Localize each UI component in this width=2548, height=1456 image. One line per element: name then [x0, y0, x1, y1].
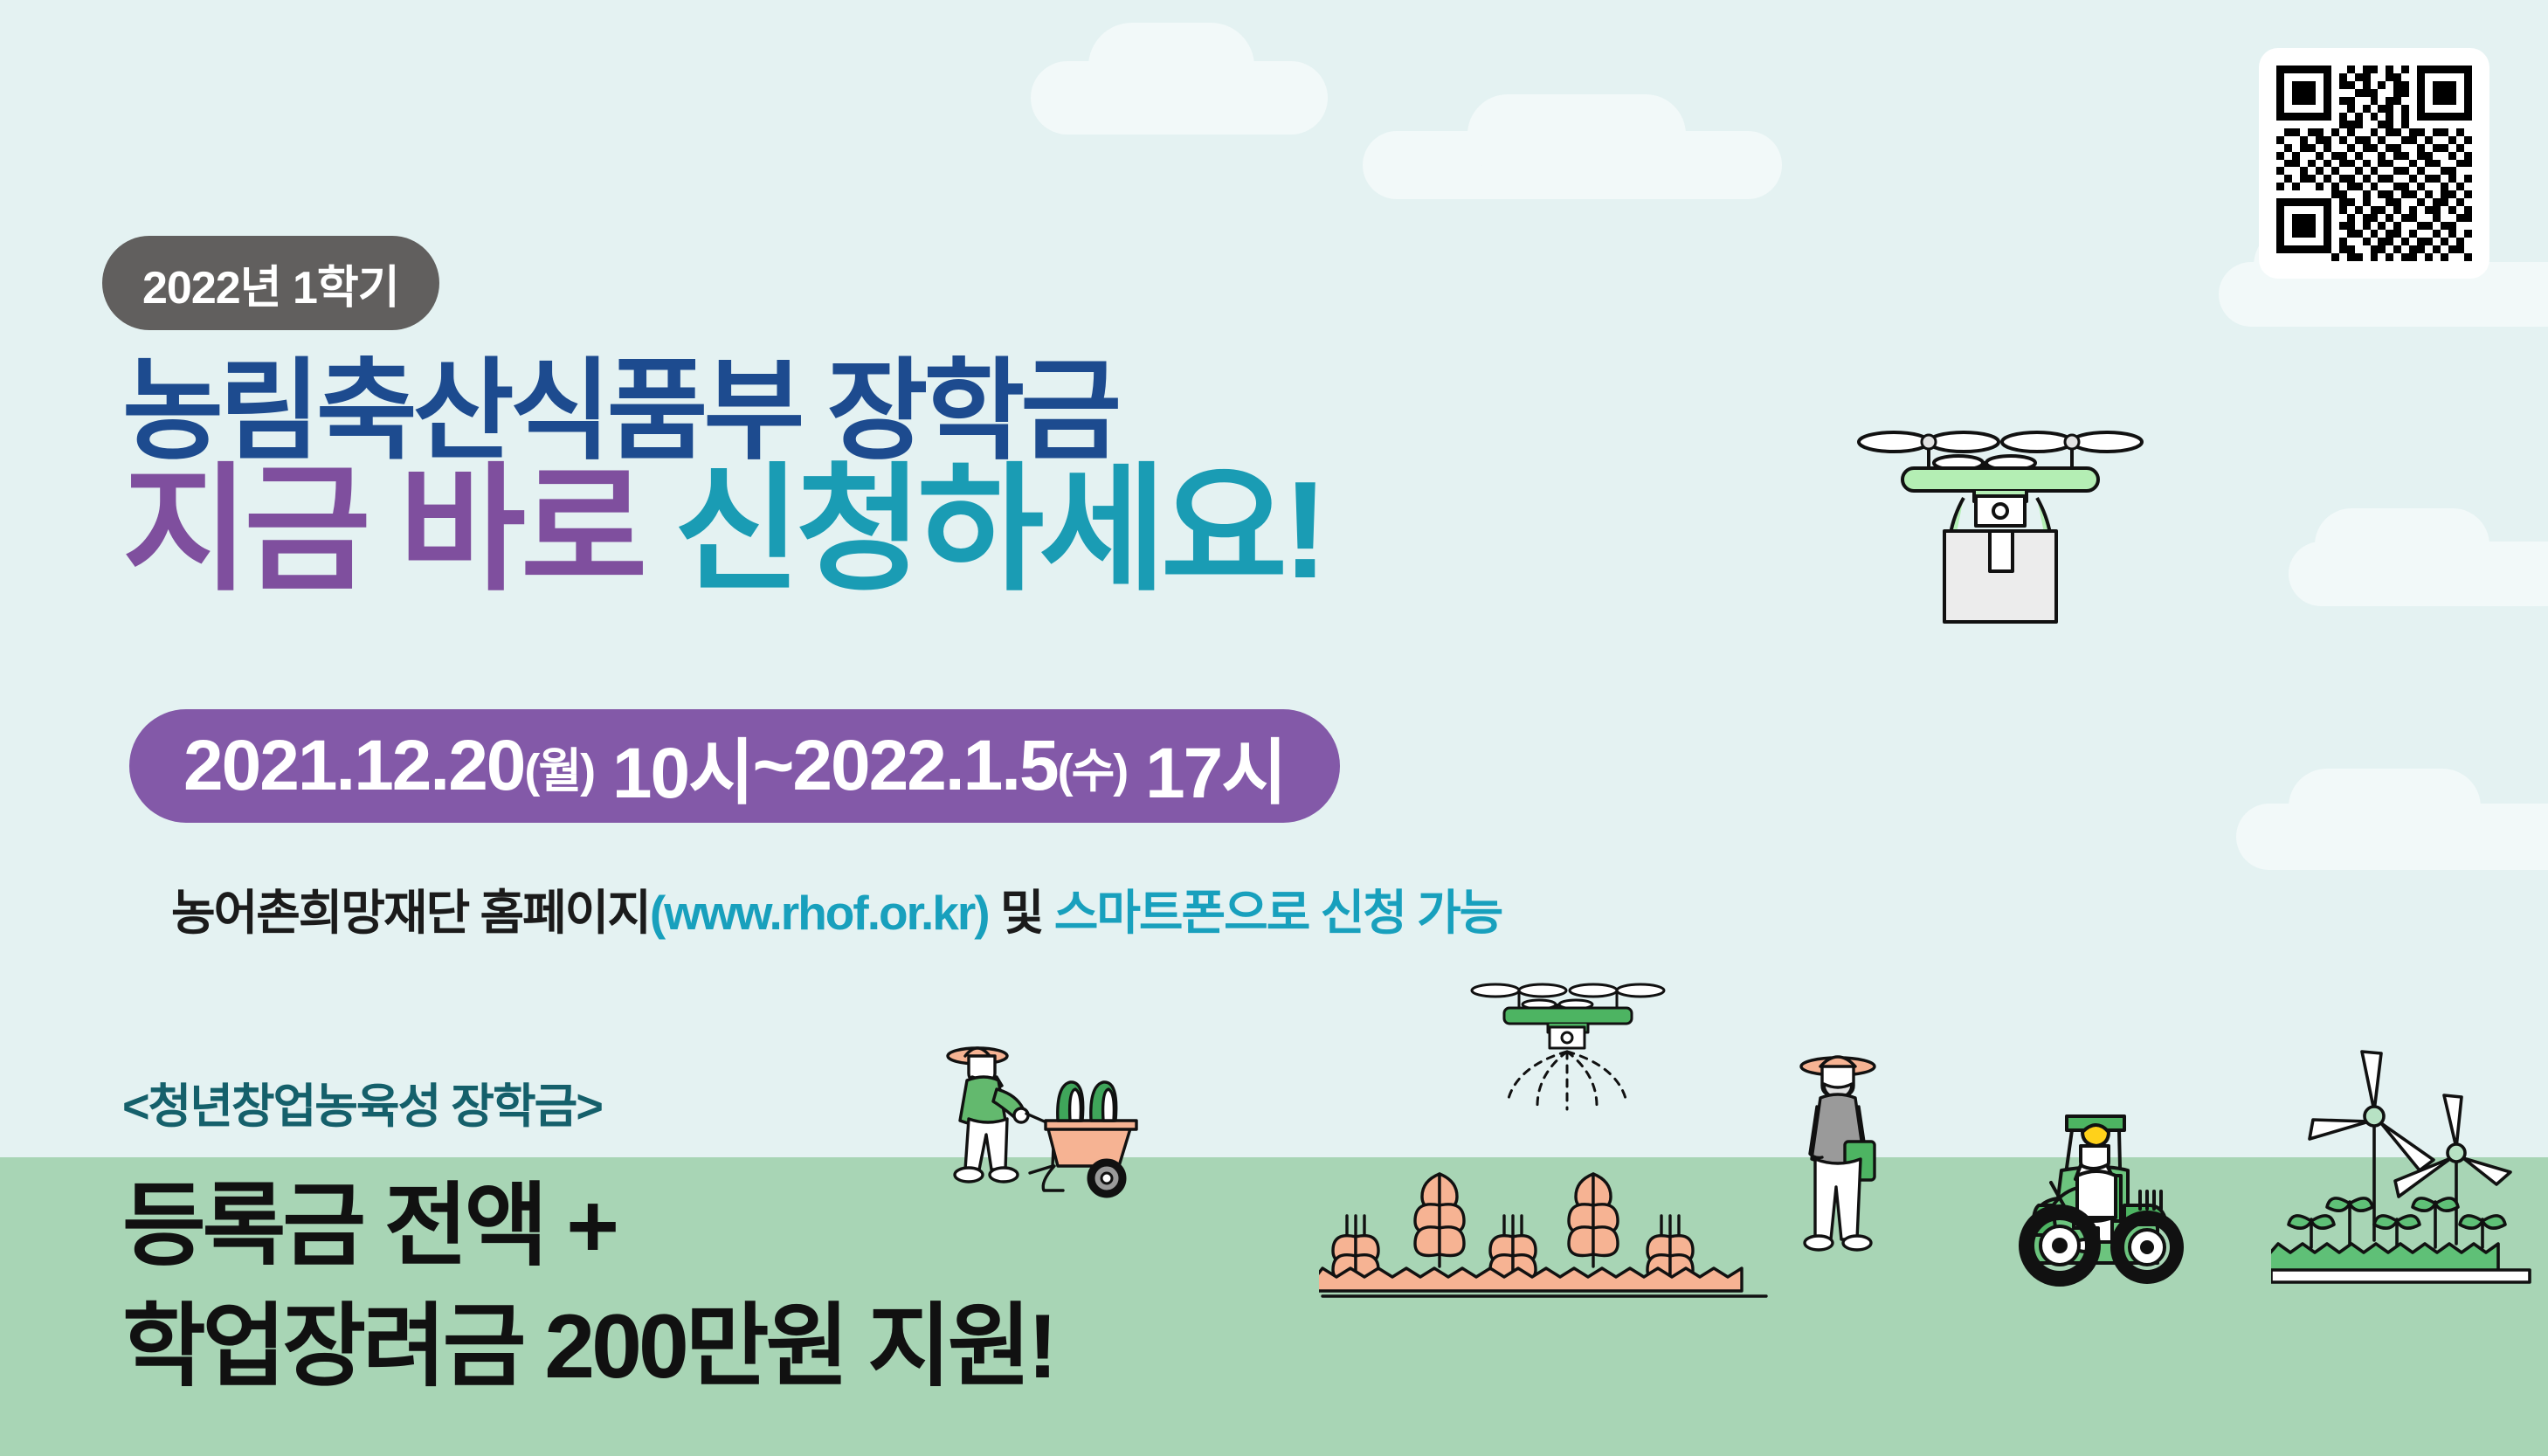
end-date: 2022.1.5	[792, 725, 1057, 807]
delivery-drone-icon	[1852, 411, 2149, 638]
farmer-with-tablet-icon	[1764, 1044, 1913, 1280]
program-name: <청년창업농육성 장학금>	[122, 1067, 602, 1136]
benefit-line-1: 등록금 전액 +	[122, 1181, 616, 1272]
farmer-with-wheelbarrow-icon	[939, 1035, 1166, 1210]
tractor-icon	[2018, 1074, 2306, 1301]
page-title-line1: 농림축산식품부 장학금	[122, 356, 1117, 466]
url-prefix: 농어촌희망재단 홈페이지	[171, 886, 650, 940]
start-time: 10시	[612, 714, 753, 818]
promotional-poster: 2022년 1학기 농림축산식품부 장학금 지금 바로신청하세요! 2021.1…	[0, 0, 2548, 1456]
cloud-icon	[2236, 804, 2548, 870]
start-day: (월)	[524, 732, 594, 801]
url-middle: 및	[989, 886, 1054, 940]
cloud-icon	[1363, 131, 1782, 199]
url-suffix: 스마트폰으로 신청 가능	[1054, 886, 1502, 940]
application-period-pill: 2021.12.20(월) 10시 ~ 2022.1.5(수) 17시	[129, 709, 1340, 823]
cloud-icon	[2289, 542, 2548, 606]
spraying-drone-icon	[1467, 978, 1668, 1127]
website-url[interactable]: (www.rhof.or.kr)	[650, 886, 989, 940]
semester-badge: 2022년 1학기	[102, 236, 439, 330]
application-channel-text: 농어촌희망재단 홈페이지(www.rhof.or.kr) 및 스마트폰으로 신청…	[171, 873, 1502, 943]
cloud-icon	[1031, 61, 1328, 135]
start-date: 2021.12.20	[183, 725, 524, 807]
page-title-line2-part2: 신청하세요!	[673, 453, 1322, 607]
end-day: (수)	[1058, 732, 1128, 801]
page-title-line2-part1: 지금 바로	[122, 453, 642, 607]
period-separator: ~	[753, 725, 793, 807]
qr-code-modules	[2276, 66, 2472, 261]
end-time: 17시	[1145, 714, 1286, 818]
wheat-field-icon	[1319, 1162, 1773, 1310]
qr-code[interactable]	[2259, 48, 2489, 279]
wind-turbines-icon	[2271, 1048, 2533, 1310]
benefit-line-2: 학업장려금 200만원 지원!	[122, 1301, 1054, 1392]
page-title-line2: 지금 바로신청하세요!	[122, 461, 1323, 599]
